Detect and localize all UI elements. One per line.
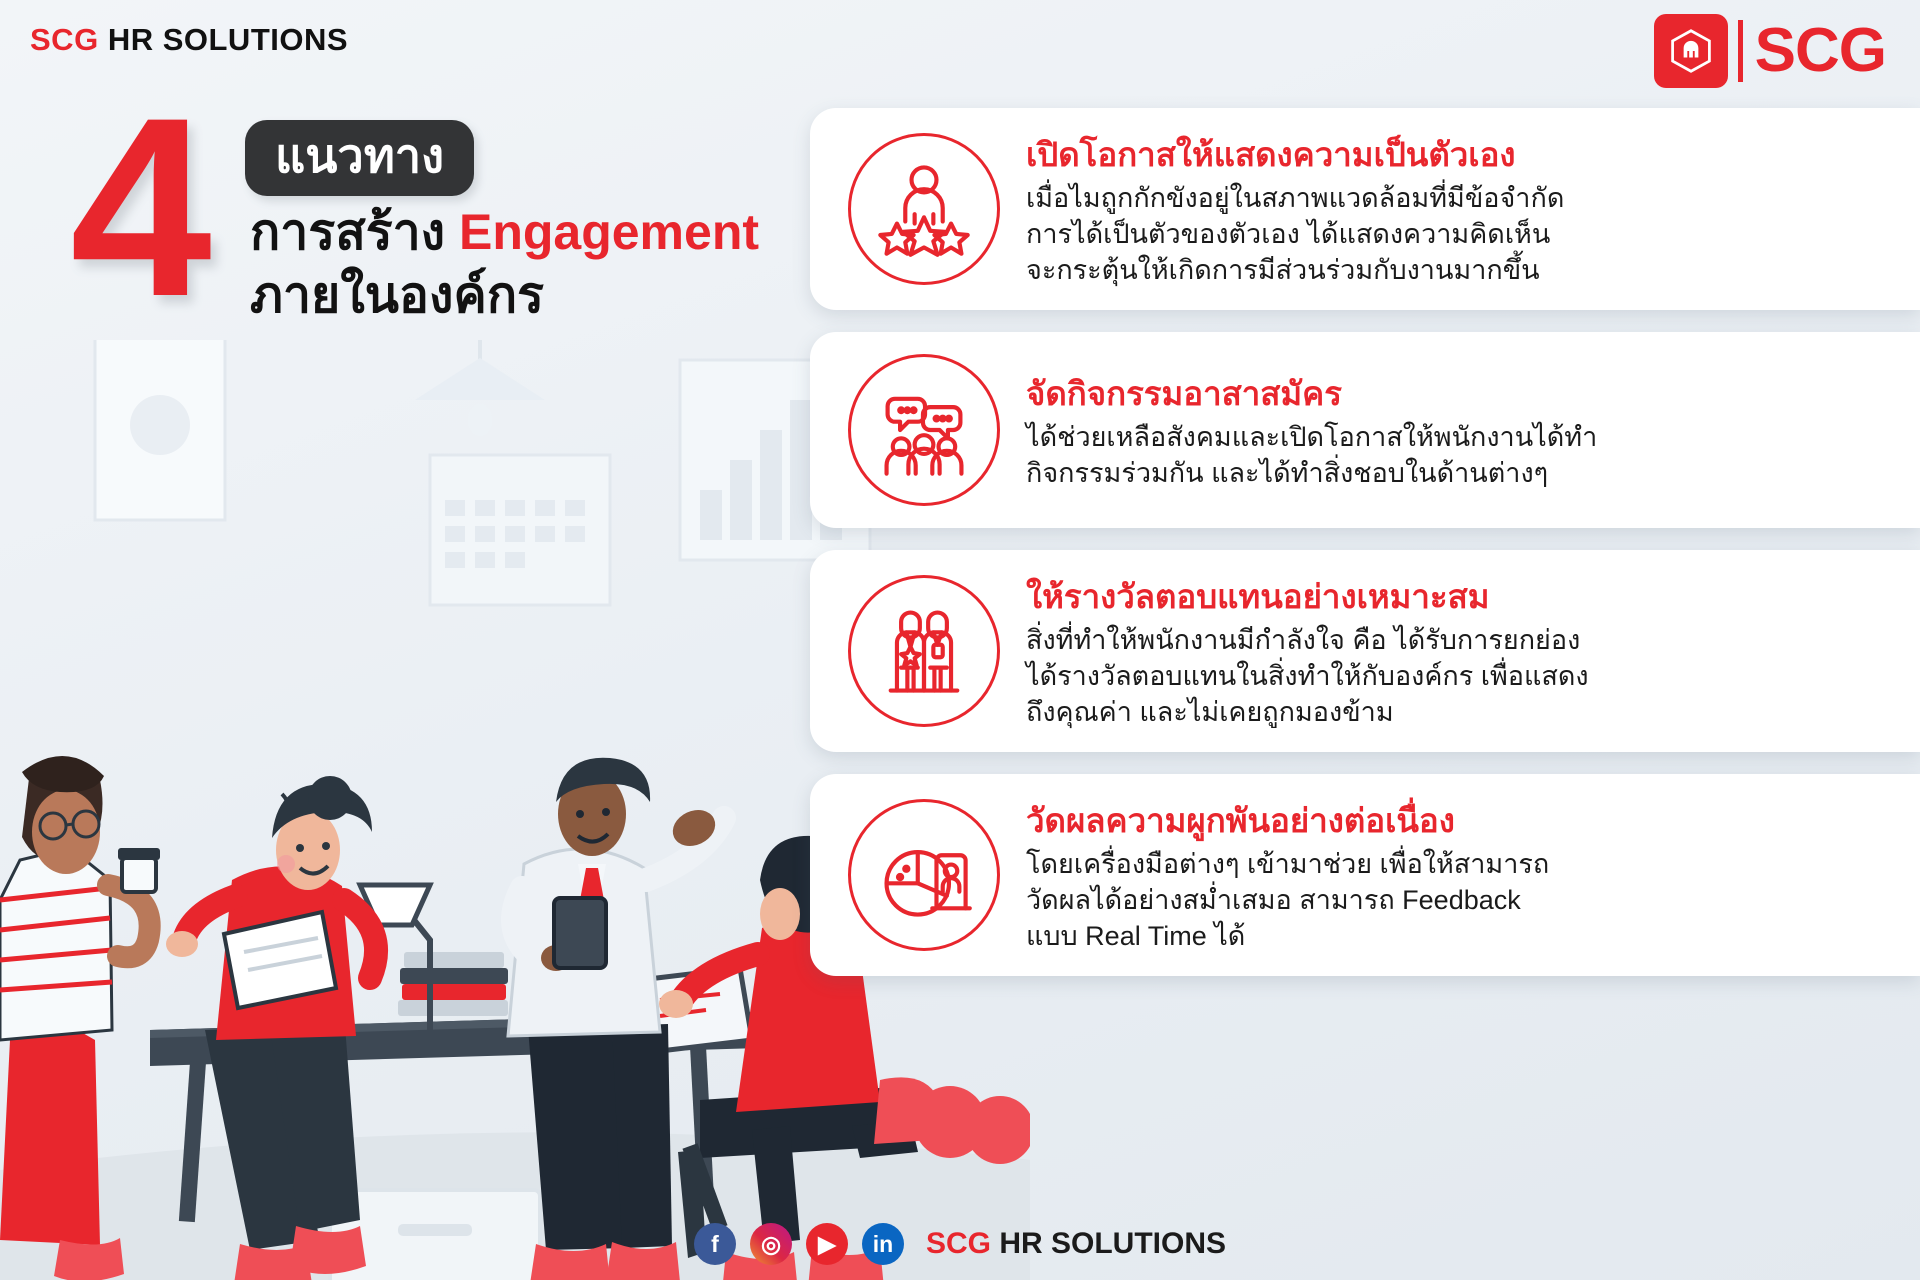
- scg-hexagon-icon: [1654, 14, 1728, 88]
- cards-column: เปิดโอกาสให้แสดงความเป็นตัวเอง เมื่อไมถู…: [810, 108, 1920, 998]
- footer-brand-rest: HR SOLUTIONS: [999, 1227, 1226, 1260]
- card-1[interactable]: เปิดโอกาสให้แสดงความเป็นตัวเอง เมื่อไมถู…: [810, 108, 1920, 310]
- card-4-body-line-1: โดยเครื่องมือต่างๆ เข้ามาช่วย เพื่อให้สา…: [1026, 846, 1549, 882]
- card-3[interactable]: ให้รางวัลตอบแทนอย่างเหมาะสม สิ่งที่ทำให้…: [810, 550, 1920, 752]
- scg-wordmark: SCG: [1755, 20, 1886, 82]
- card-1-body-line-3: จะกระตุ้นให้เกิดการมีส่วนร่วมกับงานมากขึ…: [1026, 252, 1564, 288]
- pie-chart-person-icon: [848, 799, 1000, 951]
- brand-header-rest: HR SOLUTIONS: [108, 22, 348, 57]
- scg-logo: SCG: [1654, 14, 1886, 88]
- headline-line-2-highlight: Engagement: [459, 204, 759, 260]
- card-2[interactable]: จัดกิจกรรมอาสาสมัคร ได้ช่วยเหลือสังคมและ…: [810, 332, 1920, 528]
- brand-header: SCG HR SOLUTIONS: [30, 22, 348, 58]
- infographic-canvas: SCG HR SOLUTIONS SCG 4 แนวทาง การสร้าง E…: [0, 0, 1920, 1280]
- instagram-icon[interactable]: ◎: [750, 1223, 792, 1265]
- card-2-heading: จัดกิจกรรมอาสาสมัคร: [1026, 373, 1597, 415]
- card-3-heading: ให้รางวัลตอบแทนอย่างเหมาะสม: [1026, 576, 1589, 618]
- card-3-body-line-2: ได้รางวัลตอบแทนในสิ่งทำให้กับองค์กร เพื่…: [1026, 658, 1589, 694]
- card-3-body-line-3: ถึงคุณค่า และไม่เคยถูกมองข้าม: [1026, 694, 1589, 730]
- headline-pill: แนวทาง: [245, 120, 474, 196]
- card-1-body-line-2: การได้เป็นตัวของตัวเอง ได้แสดงความคิดเห็…: [1026, 216, 1564, 252]
- card-2-body-line-2: กิจกรรมร่วมกัน และได้ทำสิ่งชอบในด้านต่าง…: [1026, 455, 1597, 491]
- scg-elephant-icon: [1668, 28, 1714, 74]
- card-4[interactable]: วัดผลความผูกพันอย่างต่อเนื่อง โดยเครื่อง…: [810, 774, 1920, 976]
- card-3-body-line-1: สิ่งที่ทำให้พนักงานมีกำลังใจ คือ ได้รับก…: [1026, 622, 1589, 658]
- linkedin-icon[interactable]: in: [862, 1223, 904, 1265]
- pendant-lamp-icon: [415, 358, 545, 400]
- person-with-stars-icon: [848, 133, 1000, 285]
- youtube-icon[interactable]: ▶: [806, 1223, 848, 1265]
- hair-bun: [308, 776, 352, 820]
- group-chat-icon: [848, 354, 1000, 506]
- footer-bar: f ◎ ▶ in SCG HR SOLUTIONS: [0, 1208, 1920, 1280]
- headline-line-2-plain: การสร้าง: [250, 204, 459, 260]
- card-4-body-line-2: วัดผลได้อย่างสม่ำเสมอ สามารถ Feedback: [1026, 882, 1549, 918]
- headline-line-3: ภายในองค์กร: [250, 263, 544, 327]
- footer-brand-scg: SCG: [926, 1227, 991, 1260]
- card-1-text: เปิดโอกาสให้แสดงความเป็นตัวเอง เมื่อไมถู…: [1026, 130, 1564, 288]
- card-4-body-line-3: แบบ Real Time ได้: [1026, 918, 1549, 954]
- tablet-icon: [554, 898, 606, 968]
- headline-line-2: การสร้าง Engagement: [250, 200, 759, 264]
- facebook-icon[interactable]: f: [694, 1223, 736, 1265]
- brand-header-scg: SCG: [30, 22, 99, 57]
- logo-divider: [1738, 20, 1743, 82]
- card-3-text: ให้รางวัลตอบแทนอย่างเหมาะสม สิ่งที่ทำให้…: [1026, 572, 1589, 730]
- card-1-heading: เปิดโอกาสให้แสดงความเป็นตัวเอง: [1026, 134, 1564, 176]
- book-stack: [398, 1000, 508, 1016]
- award-people-icon: [848, 575, 1000, 727]
- title-block: 4 แนวทาง การสร้าง Engagement ภายในองค์กร: [70, 105, 890, 335]
- coffee-cup-icon: [122, 858, 156, 892]
- card-2-text: จัดกิจกรรมอาสาสมัคร ได้ช่วยเหลือสังคมและ…: [1026, 369, 1597, 491]
- card-2-body-line-1: ได้ช่วยเหลือสังคมและเปิดโอกาสให้พนักงานไ…: [1026, 419, 1597, 455]
- card-4-heading: วัดผลความผูกพันอย่างต่อเนื่อง: [1026, 800, 1549, 842]
- card-4-text: วัดผลความผูกพันอย่างต่อเนื่อง โดยเครื่อง…: [1026, 796, 1549, 954]
- card-1-body-line-1: เมื่อไมถูกกักขังอยู่ในสภาพแวดล้อมที่มีข้…: [1026, 180, 1564, 216]
- headline-number: 4: [70, 93, 204, 323]
- footer-brand-label: SCG HR SOLUTIONS: [926, 1227, 1226, 1261]
